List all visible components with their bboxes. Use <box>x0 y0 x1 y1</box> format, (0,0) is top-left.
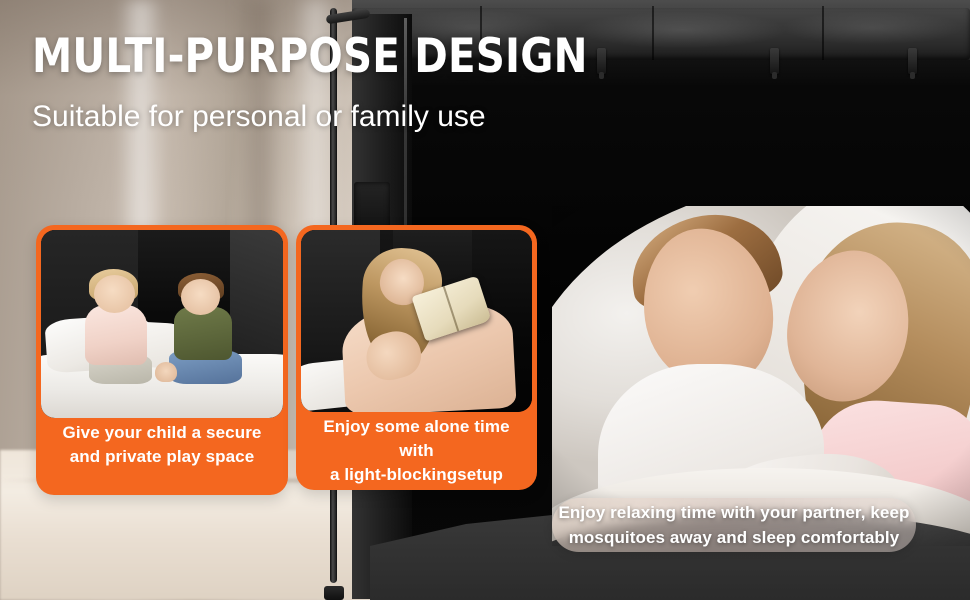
feature-card-kids[interactable]: Give your child a secure and private pla… <box>36 225 288 495</box>
headline-block: MULTI-PURPOSE DESIGN Suitable for person… <box>32 30 652 134</box>
tent-frame-foot <box>324 586 344 600</box>
girl-body <box>85 305 148 365</box>
photo-vignette <box>552 206 970 546</box>
card-alone-caption-line: that helps you rest better <box>304 487 529 490</box>
product-feature-banner: MULTI-PURPOSE DESIGN Suitable for person… <box>0 0 970 600</box>
page-title: MULTI-PURPOSE DESIGN <box>32 30 565 84</box>
tent-toggle-tab <box>908 48 917 74</box>
card-alone-caption: Enjoy some alone time with a light-block… <box>304 415 529 490</box>
card-kids-caption-line: Give your child a secure <box>44 421 280 445</box>
girl-face <box>94 275 135 313</box>
hero-couple-photo <box>552 206 970 546</box>
hero-caption-line: Enjoy relaxing time with your partner, k… <box>558 500 909 525</box>
boy-body <box>174 307 232 360</box>
tent-seam <box>822 6 824 60</box>
hero-caption-line: mosquitoes away and sleep comfortably <box>558 525 909 550</box>
boy-foot <box>155 362 177 383</box>
card-alone-caption-line: a light-blockingsetup <box>304 463 529 487</box>
card-kids-caption-line: and private play space <box>44 445 280 469</box>
page-subtitle: Suitable for personal or family use <box>32 100 652 134</box>
card-alone-photo <box>301 230 532 412</box>
feature-card-alone-time[interactable]: Enjoy some alone time with a light-block… <box>296 225 537 490</box>
boy-face <box>181 279 220 315</box>
hero-caption: Enjoy relaxing time with your partner, k… <box>552 497 916 553</box>
card-kids-photo <box>41 230 283 418</box>
tent-toggle-tab <box>770 48 779 74</box>
card-kids-caption: Give your child a secure and private pla… <box>44 421 280 469</box>
card-alone-caption-line: Enjoy some alone time with <box>304 415 529 463</box>
tent-seam <box>652 6 654 60</box>
